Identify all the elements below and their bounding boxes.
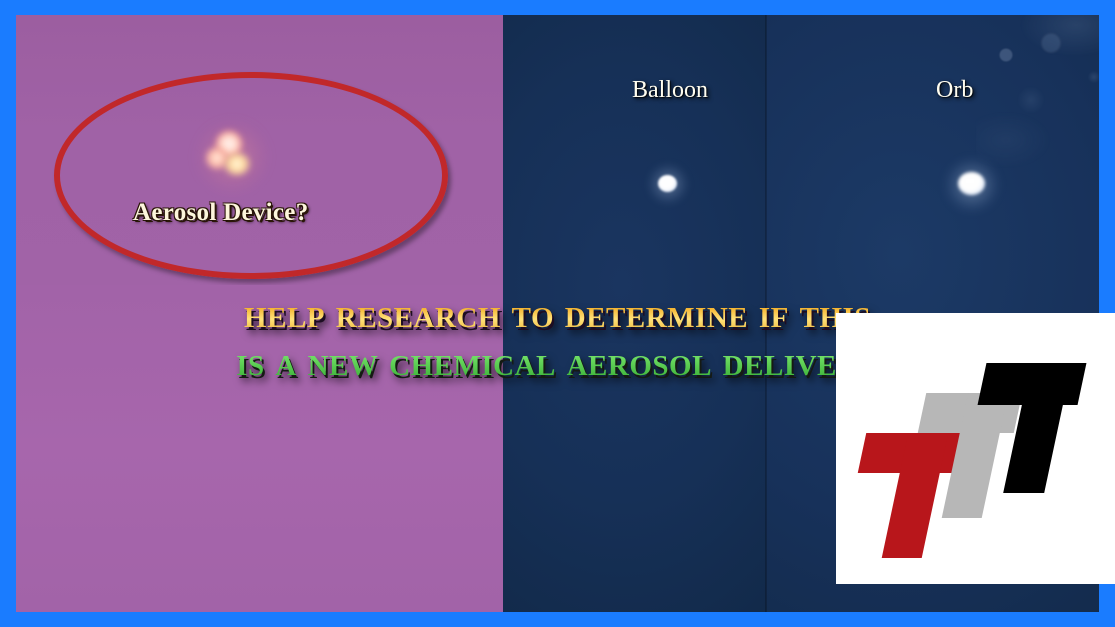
aerosol-device-object	[202, 127, 264, 189]
logo-glyph-group	[850, 369, 1100, 569]
channel-logo	[836, 313, 1115, 584]
panel-divider	[765, 15, 767, 612]
orb-light-object	[949, 163, 995, 207]
moon-surface-icon	[976, 15, 1099, 175]
panel-aerosol-device: Aerosol Device?	[16, 15, 503, 285]
label-balloon-night: Balloon	[632, 77, 708, 104]
balloon-light-object	[651, 167, 685, 201]
label-orb: Orb	[936, 77, 973, 104]
label-aerosol-device: Aerosol Device?	[133, 199, 309, 227]
red-ellipse-annotation-icon	[54, 72, 448, 279]
panel-balloon-purple: Balloon	[16, 285, 503, 612]
panel-balloon-night: Balloon	[503, 15, 766, 612]
video-thumbnail: Aerosol Device? Balloon Balloon	[0, 0, 1115, 627]
